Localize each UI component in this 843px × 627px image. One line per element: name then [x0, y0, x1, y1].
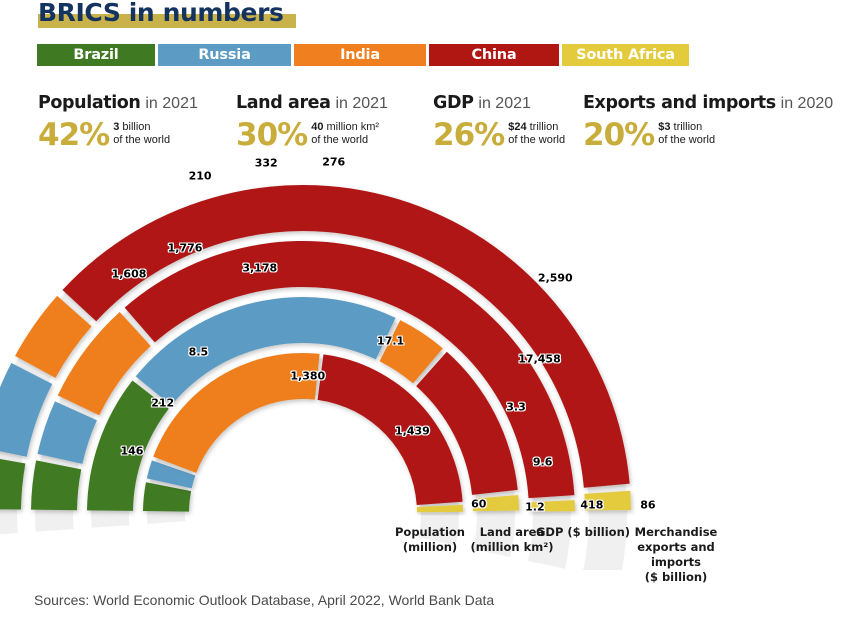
stat-land-area: Land area in 2021 30% 40 million km² of … [236, 92, 388, 151]
infographic-root: BRICS in numbers Brazil Russia India Chi… [0, 0, 843, 627]
stat-population-amount: 3 [113, 121, 119, 133]
stat-gdp-amount: $24 [508, 121, 526, 133]
arc-value-label: 1,439 [395, 424, 430, 437]
legend-item-russia[interactable]: Russia [158, 44, 291, 66]
stat-gdp-unit: trillion [530, 121, 559, 133]
stat-exports-imports-heading: Exports and imports in 2020 [583, 92, 833, 114]
legend-item-india[interactable]: India [294, 44, 426, 66]
arc-value-label: 17.1 [377, 335, 404, 348]
stat-exports-imports-year: in 2020 [781, 95, 834, 112]
arc-value-label: 9.6 [533, 456, 553, 469]
stat-gdp-heading: GDP in 2021 [433, 92, 565, 114]
arc-value-label: 418 [580, 498, 603, 511]
stat-population: Population in 2021 42% 3 billion of the … [38, 92, 198, 151]
stat-population-heading: Population in 2021 [38, 92, 198, 114]
arc-value-label: 3.3 [506, 400, 526, 413]
ring-axis-label-line: (million km²) [452, 540, 572, 555]
arc-value-label: 1,776 [168, 242, 203, 255]
stat-exports-imports-amount: $3 [658, 121, 670, 133]
source-note: Sources: World Economic Outlook Database… [34, 592, 494, 608]
stat-gdp-percent: 26% [433, 120, 504, 151]
page-title-text: BRICS in numbers [38, 0, 284, 28]
stat-gdp-metric: GDP [433, 93, 474, 113]
arc-value-label: 8.5 [189, 345, 209, 358]
stat-population-percent: 42% [38, 120, 109, 151]
stat-gdp: GDP in 2021 26% $24 trillion of the worl… [433, 92, 565, 151]
legend-item-south-africa[interactable]: South Africa [562, 44, 689, 66]
arc-value-label: 86 [640, 498, 655, 511]
page-title: BRICS in numbers [38, 0, 284, 28]
stat-land-area-unit: million km² [327, 121, 380, 133]
arc-value-label: 212 [151, 397, 174, 410]
arc-value-label: 210 [189, 170, 212, 183]
arc-value-label: 1.2 [525, 500, 545, 513]
stat-land-area-metric: Land area [236, 93, 331, 113]
ring-axis-label-line: exports and imports [616, 540, 736, 570]
stat-land-area-amount: 40 [311, 121, 323, 133]
legend-label-china: China [471, 47, 516, 63]
chart-svg [0, 150, 843, 570]
stat-land-area-of: of the world [311, 134, 379, 147]
legend-label-brazil: Brazil [73, 47, 118, 63]
arc-value-label: 60 [471, 498, 486, 511]
legend-item-brazil[interactable]: Brazil [37, 44, 155, 66]
stat-exports-imports: Exports and imports in 2020 20% $3 trill… [583, 92, 833, 151]
arc-value-label: 332 [255, 156, 278, 169]
ring-axis-label-line: ($ billion) [616, 570, 736, 585]
stat-land-area-year: in 2021 [335, 95, 388, 112]
stat-population-year: in 2021 [145, 95, 198, 112]
arc-value-label: 17,458 [518, 353, 560, 366]
stat-exports-imports-of: of the world [658, 134, 715, 147]
stat-exports-imports-unit: trillion [674, 121, 703, 133]
legend-label-india: India [340, 47, 380, 63]
stat-land-area-percent: 30% [236, 120, 307, 151]
country-legend: Brazil Russia India China South Africa [37, 44, 689, 66]
arc-value-label: 1,608 [112, 267, 147, 280]
arc-value-label: 146 [120, 444, 143, 457]
ring-axis-label: Merchandiseexports and imports($ billion… [616, 525, 736, 585]
stat-population-unit: billion [122, 121, 150, 133]
legend-label-russia: Russia [198, 47, 250, 63]
arc-value-label: 3,178 [242, 261, 277, 274]
ring-axis-label-line: Merchandise [616, 525, 736, 540]
legend-item-china[interactable]: China [429, 44, 559, 66]
arc-segment[interactable] [0, 455, 25, 509]
radial-stacked-arc-chart: 2121461,3801,439608.517.13.39.61.21,6081… [0, 150, 843, 570]
arc-value-label: 1,380 [290, 370, 325, 383]
stat-gdp-of: of the world [508, 134, 565, 147]
arc-segment[interactable] [31, 460, 81, 510]
stat-population-metric: Population [38, 93, 141, 113]
stat-exports-imports-metric: Exports and imports [583, 93, 776, 113]
legend-label-south-africa: South Africa [576, 47, 675, 63]
stat-gdp-year: in 2021 [478, 95, 531, 112]
arc-value-label: 276 [322, 156, 345, 169]
stat-exports-imports-percent: 20% [583, 120, 654, 151]
stat-population-of: of the world [113, 134, 170, 147]
stat-land-area-heading: Land area in 2021 [236, 92, 388, 114]
arc-value-label: 2,590 [538, 271, 573, 284]
